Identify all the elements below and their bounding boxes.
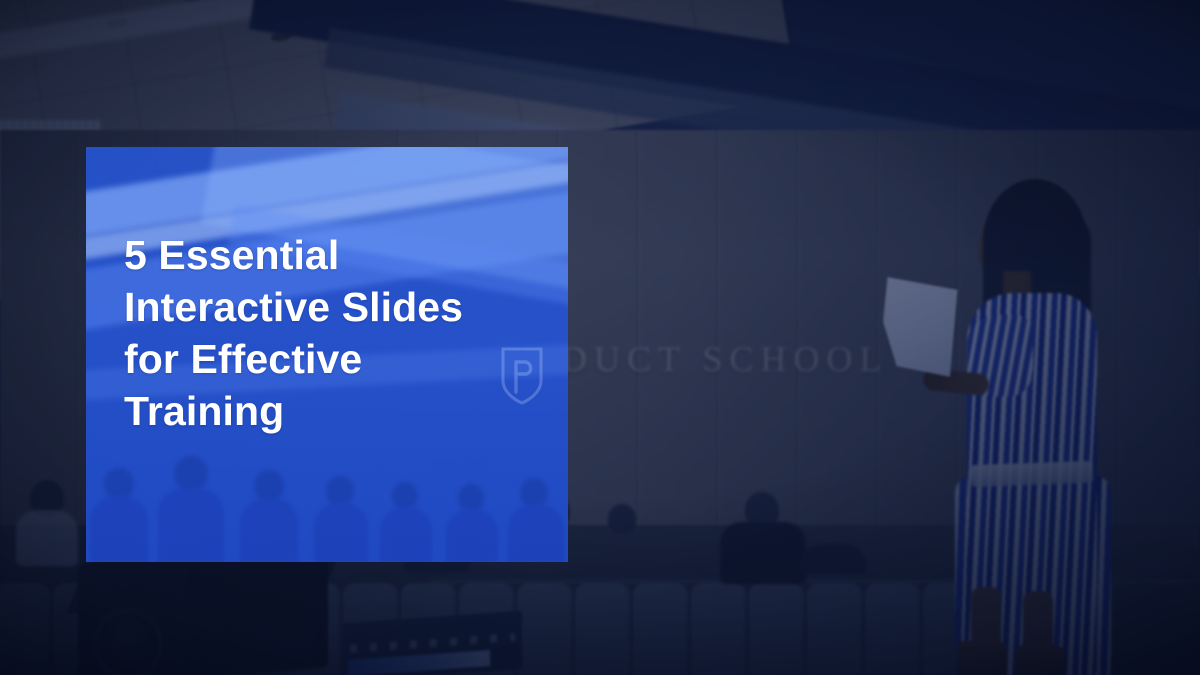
- slide-title: 5 Essential Interactive Slides for Effec…: [124, 229, 544, 437]
- overlay-audience-silhouettes: [86, 442, 568, 562]
- title-overlay-card: 5 Essential Interactive Slides for Effec…: [86, 147, 568, 562]
- slide-canvas: PRODUCT SCHOOL: [0, 0, 1200, 675]
